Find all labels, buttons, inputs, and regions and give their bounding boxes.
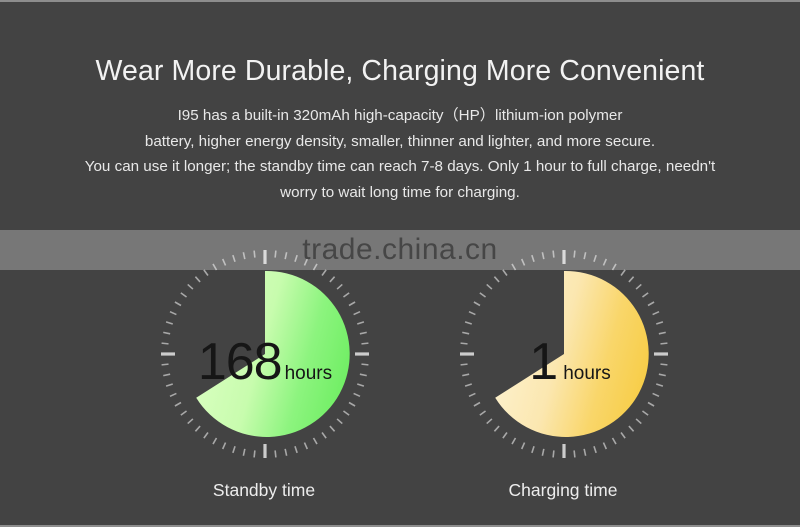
standby-dial-svg [159,248,371,460]
description-line-1: I95 has a built-in 320mAh high-capacity（… [40,103,760,129]
charging-caption: Charging time [413,480,713,501]
standby-caption: Standby time [114,480,414,501]
charging-dial: 1 hours [458,248,670,460]
product-description: I95 has a built-in 320mAh high-capacity（… [40,103,760,205]
standby-pie-slice [196,271,349,437]
description-line-3: You can use it longer; the standby time … [40,154,760,180]
charging-pie-slice [495,271,648,437]
gauge-group: 168 hours Standby time [0,248,800,527]
promo-banner: Wear More Durable, Charging More Conveni… [0,0,800,527]
standby-time-gauge: 168 hours Standby time [114,248,414,527]
description-line-4: worry to wait long time for charging. [40,180,760,206]
page-title: Wear More Durable, Charging More Conveni… [0,54,800,88]
charging-time-gauge: 1 hours Charging time [413,248,713,527]
description-line-2: battery, higher energy density, smaller,… [40,129,760,155]
standby-dial: 168 hours [159,248,371,460]
charging-dial-svg [458,248,670,460]
